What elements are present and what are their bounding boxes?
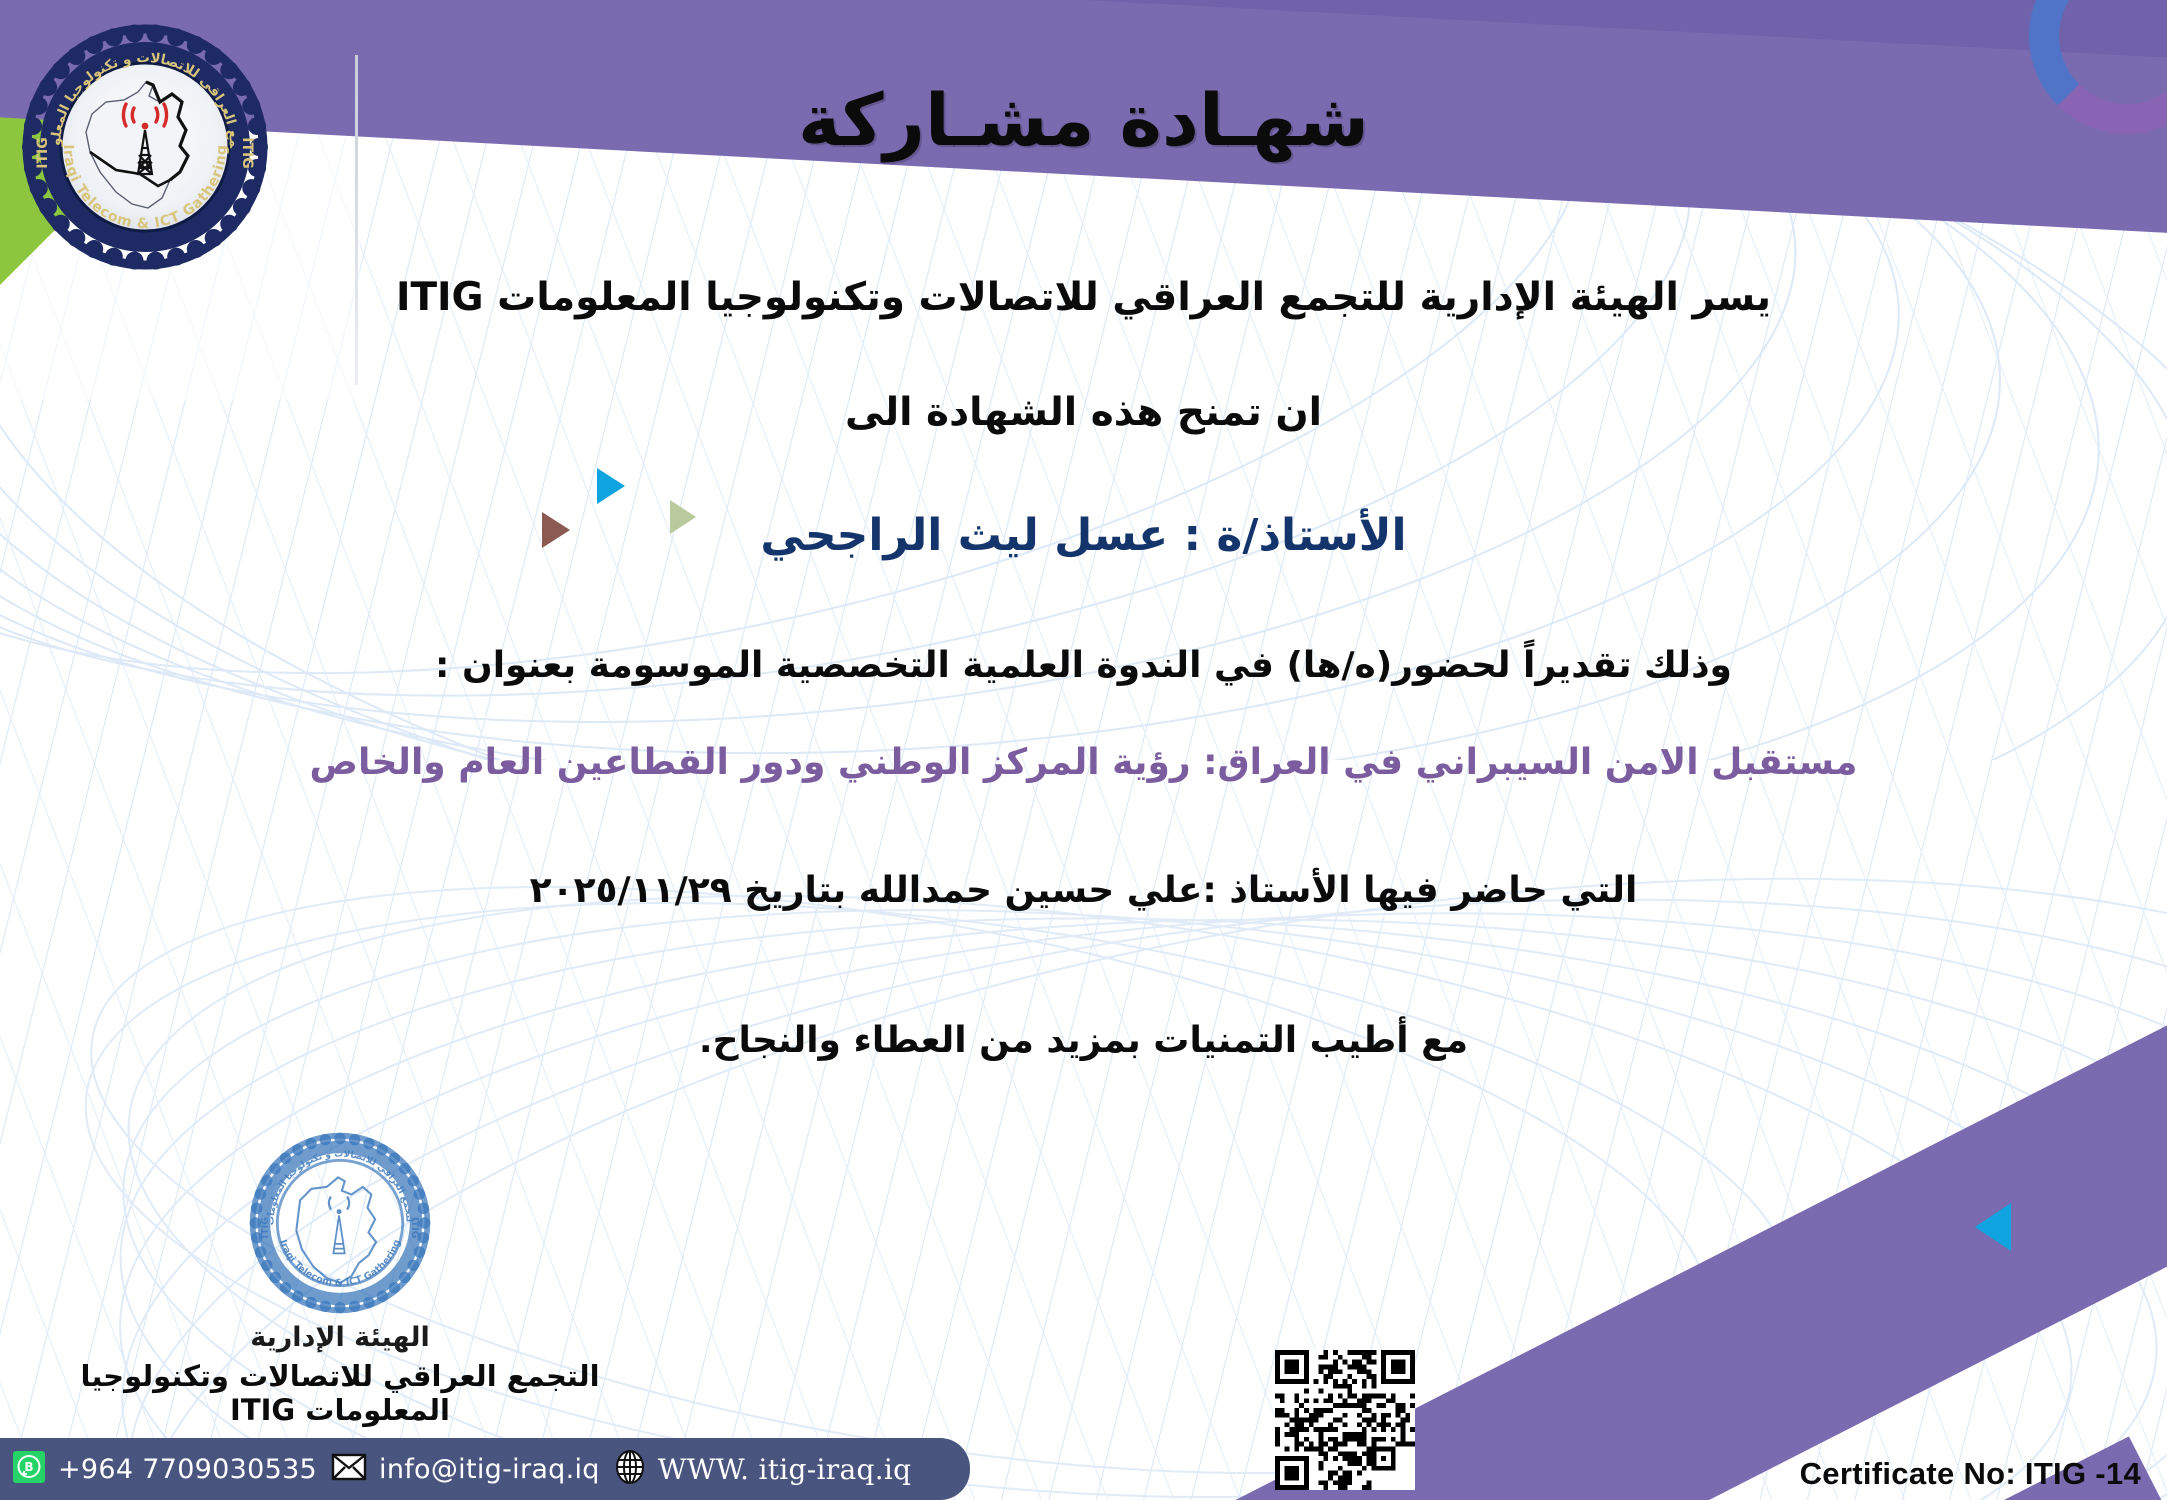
lecturer-and-date-line: التي حاضر فيها الأستاذ :علي حسين حمدالله… <box>0 870 2167 911</box>
signature-authority: الهيئة الإدارية <box>10 1322 670 1353</box>
certificate-page: التجمع العراقي للاتصالات و تكنولوجيا الم… <box>0 0 2167 1500</box>
footer-email-label: info@itig-iraq.iq <box>379 1454 600 1485</box>
qr-code-icon[interactable] <box>1275 1350 1415 1490</box>
whatsapp-icon: B <box>12 1450 46 1488</box>
signature-organization: التجمع العراقي للاتصالات وتكنولوجيا المع… <box>10 1359 670 1427</box>
footer-contact-bar: B +964 7709030535 info@itig-iraq.iq <box>0 1438 970 1500</box>
purple-band-bottom <box>1000 848 2167 1500</box>
svg-text:B: B <box>24 1460 33 1474</box>
footer-email[interactable]: info@itig-iraq.iq <box>331 1453 600 1485</box>
envelope-icon <box>331 1453 367 1485</box>
seminar-title: مستقبل الامن السيبراني في العراق: رؤية ا… <box>0 742 2167 783</box>
itig-seal-icon: التجمع العراقي للاتصالات و تكنولوجيا الم… <box>245 1128 435 1318</box>
footer-phone-label: +964 7709030535 <box>58 1454 317 1485</box>
closing-line: مع أطيب التمنيات بمزيد من العطاء والنجاح… <box>0 1020 2167 1061</box>
footer-phone[interactable]: B +964 7709030535 <box>12 1450 317 1488</box>
svg-text:ITIG: ITIG <box>260 1217 271 1239</box>
svg-text:ITIG: ITIG <box>409 1217 420 1239</box>
purple-band-top-upper <box>0 0 2167 87</box>
reason-line: وذلك تقديراً لحضور(ه/ها) في الندوة العلم… <box>0 645 2167 686</box>
footer-website[interactable]: WWW. itig-iraq.iq <box>614 1449 912 1489</box>
issuer-line: يسر الهيئة الإدارية للتجمع العراقي للاتص… <box>0 275 2167 320</box>
cyan-triangle-large-icon <box>1975 1203 2011 1251</box>
page-title: شهـادة مشـاركة <box>0 78 2167 162</box>
globe-icon <box>614 1449 646 1489</box>
signature-block: التجمع العراقي للاتصالات و تكنولوجيا الم… <box>10 1128 670 1427</box>
footer-website-label: WWW. itig-iraq.iq <box>658 1453 912 1486</box>
recipient-name: الأستاذ/ة : عسل ليث الراجحي <box>0 510 2167 561</box>
cyan-triangle-icon <box>597 468 625 504</box>
grant-line: ان تمنح هذه الشهادة الى <box>0 390 2167 435</box>
certificate-number: Certificate No: ITIG -14 <box>1800 1456 2141 1492</box>
